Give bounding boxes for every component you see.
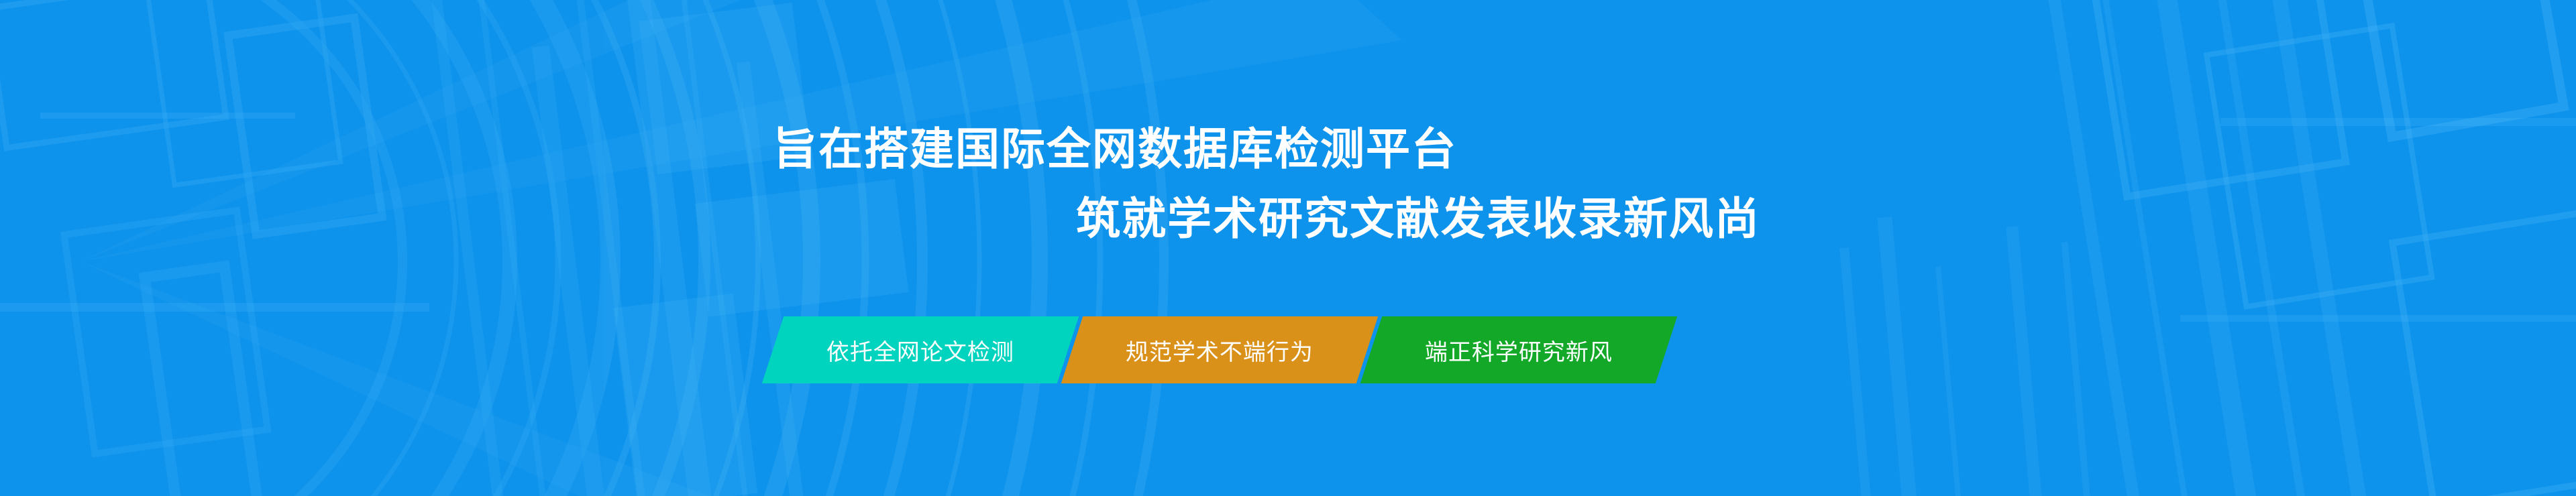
feature-tag-research-ethos[interactable]: 端正科学研究新风 [1360,316,1677,383]
feature-tag-label: 规范学术不端行为 [1126,334,1313,367]
headline-line-2: 筑就学术研究文献发表收录新风尚 [1076,184,2576,253]
feature-tag-paper-detection[interactable]: 依托全网论文检测 [762,316,1079,383]
feature-tag-academic-misconduct[interactable]: 规范学术不端行为 [1061,316,1378,383]
headline-line-1: 旨在搭建国际全网数据库检测平台 [773,114,2576,184]
promo-banner: 旨在搭建国际全网数据库检测平台 筑就学术研究文献发表收录新风尚 依托全网论文检测… [0,0,2576,496]
feature-tag-band: 依托全网论文检测 规范学术不端行为 端正科学研究新风 [773,316,1666,383]
feature-tag-label: 端正科学研究新风 [1425,334,1613,367]
feature-tag-label: 依托全网论文检测 [826,334,1014,367]
headline-block: 旨在搭建国际全网数据库检测平台 筑就学术研究文献发表收录新风尚 [0,114,2576,253]
